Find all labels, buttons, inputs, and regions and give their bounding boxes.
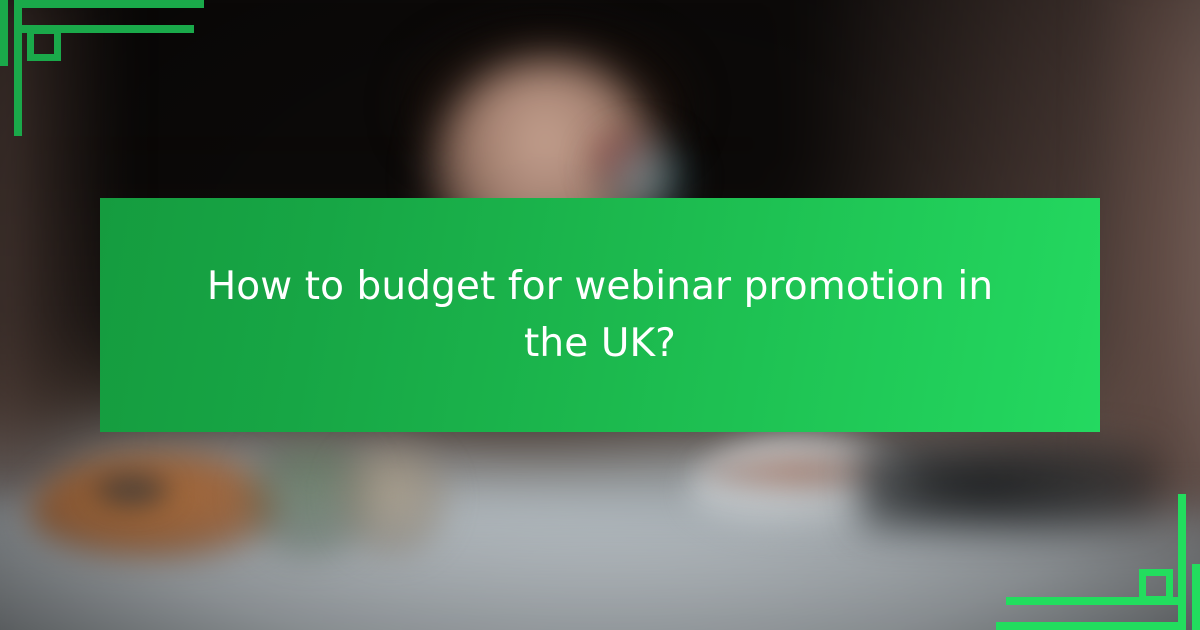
- bottom-right-corner-frame: [990, 480, 1200, 630]
- corner-small-square-icon: [1139, 569, 1173, 603]
- top-left-corner-frame: [0, 0, 210, 150]
- page-title: How to budget for webinar promotion in t…: [205, 258, 995, 372]
- corner-horizontal-top-line: [14, 0, 204, 8]
- corner-horizontal-bottom-line: [996, 622, 1186, 630]
- share-card-canvas: How to budget for webinar promotion in t…: [0, 0, 1200, 630]
- corner-small-square-icon: [27, 27, 61, 61]
- corner-vertical-outer-line: [0, 0, 8, 66]
- corner-vertical-inner-line: [14, 0, 22, 136]
- title-banner: How to budget for webinar promotion in t…: [100, 198, 1100, 432]
- corner-vertical-outer-line: [1192, 564, 1200, 630]
- corner-vertical-inner-line: [1178, 494, 1186, 630]
